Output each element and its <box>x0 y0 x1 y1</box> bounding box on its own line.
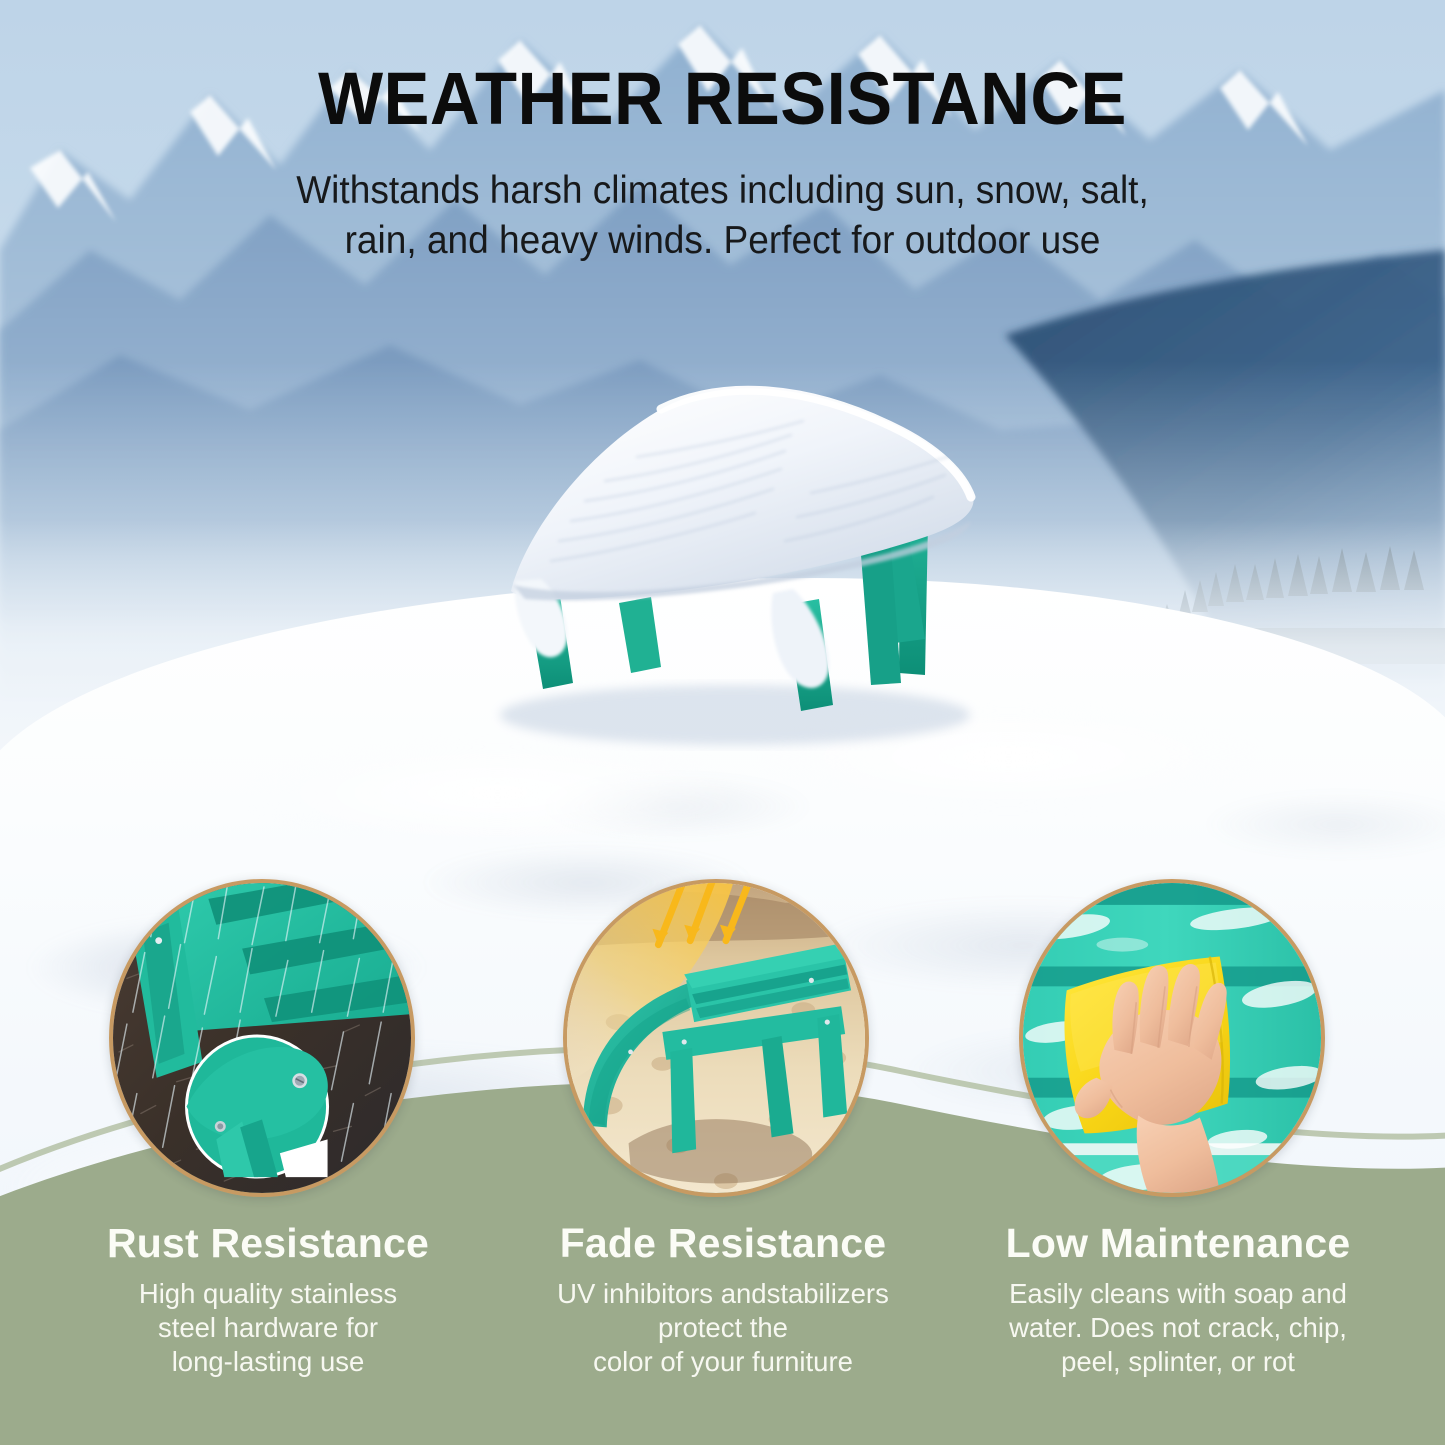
feature-image-rust-resistance <box>109 879 415 1197</box>
feature-title-fade: Fade Resistance <box>513 1222 933 1265</box>
feature-body-rust: High quality stainless steel hardware fo… <box>58 1277 478 1379</box>
fade-body-line-1: UV inhibitors andstabilizers <box>513 1277 933 1311</box>
page-subtitle: Withstands harsh climates including sun,… <box>36 166 1409 266</box>
feature-image-low-maintenance <box>1019 879 1325 1197</box>
subtitle-line-2: rain, and heavy winds. Perfect for outdo… <box>36 216 1409 266</box>
subtitle-line-1: Withstands harsh climates including sun,… <box>36 166 1409 216</box>
feature-caption-fade-resistance: Fade Resistance UV inhibitors andstabili… <box>513 1222 933 1379</box>
rust-body-line-1: High quality stainless <box>58 1277 478 1311</box>
fade-body-line-3: color of your furniture <box>513 1345 933 1379</box>
feature-caption-rust-resistance: Rust Resistance High quality stainless s… <box>58 1222 478 1379</box>
fade-body-line-2: protect the <box>513 1311 933 1345</box>
infographic-canvas: WEATHER RESISTANCE Withstands harsh clim… <box>0 0 1445 1445</box>
feature-body-maintenance: Easily cleans with soap and water. Does … <box>968 1277 1388 1379</box>
rust-body-line-2: steel hardware for <box>58 1311 478 1345</box>
feature-body-fade: UV inhibitors andstabilizers protect the… <box>513 1277 933 1379</box>
rust-body-line-3: long-lasting use <box>58 1345 478 1379</box>
chair-cast-shadow <box>500 685 970 745</box>
magnifier-inset <box>187 1036 328 1177</box>
header-block: WEATHER RESISTANCE Withstands harsh clim… <box>0 0 1445 266</box>
feature-title-maintenance: Low Maintenance <box>968 1222 1388 1265</box>
maintenance-body-line-1: Easily cleans with soap and <box>968 1277 1388 1311</box>
chair-illustration <box>455 385 1015 745</box>
page-title: WEATHER RESISTANCE <box>51 62 1395 136</box>
main-product-chair <box>455 385 1015 745</box>
feature-image-fade-resistance <box>563 879 869 1197</box>
maintenance-body-line-3: peel, splinter, or rot <box>968 1345 1388 1379</box>
feature-title-rust: Rust Resistance <box>58 1222 478 1265</box>
rust-resistance-scene <box>113 883 411 1193</box>
fade-resistance-scene <box>567 883 865 1193</box>
maintenance-body-line-2: water. Does not crack, chip, <box>968 1311 1388 1345</box>
low-maintenance-scene <box>1023 883 1321 1193</box>
feature-caption-low-maintenance: Low Maintenance Easily cleans with soap … <box>968 1222 1388 1379</box>
